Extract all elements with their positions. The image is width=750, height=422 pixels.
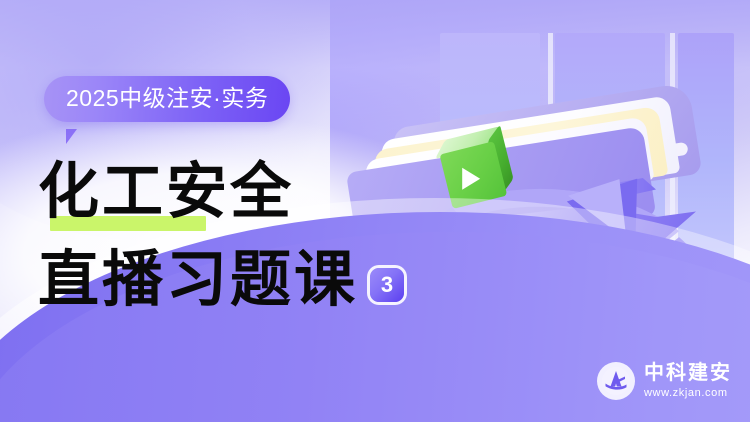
brand-text-block: 中科建安 www.zkjan.com: [644, 363, 732, 399]
course-title-primary: 化工安全: [38, 159, 294, 226]
zkjan-circle-logo-icon: [597, 362, 635, 400]
course-banner: 2025中级注安·实务 化工安全 直播习题课 3 中科建安 www.zkjan.…: [0, 0, 750, 422]
title-block: 化工安全 直播习题课 3: [38, 152, 468, 322]
brand-url-label: www.zkjan.com: [644, 388, 732, 399]
course-category-badge: 2025中级注安·实务: [44, 76, 290, 122]
brand-logo: 中科建安 www.zkjan.com: [597, 362, 732, 400]
badge-tail-icon: [66, 129, 86, 144]
title-line-1: 化工安全: [38, 152, 468, 234]
title-line-2: 直播习题课 3: [38, 240, 468, 322]
episode-number-label: 3: [381, 274, 393, 296]
course-title-secondary: 直播习题课: [38, 240, 358, 322]
episode-number-badge: 3: [370, 268, 404, 302]
course-category-label: 2025中级注安·实务: [66, 83, 268, 113]
brand-name-label: 中科建安: [644, 363, 732, 383]
